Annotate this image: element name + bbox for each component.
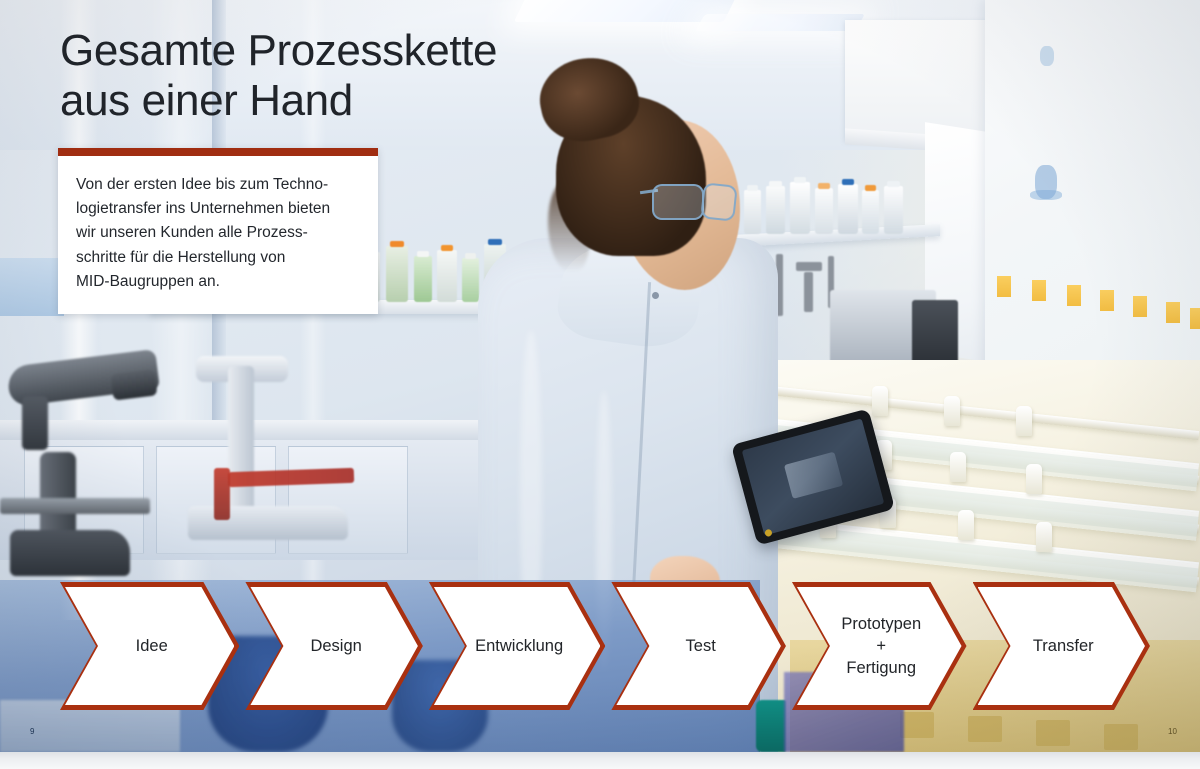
process-step-label: Transfer [1019,635,1104,657]
coat-button [652,292,659,299]
whiteboard-marking [1040,46,1054,66]
process-step-prototypen-fertigung[interactable]: Prototypen + Fertigung [792,582,967,710]
sticky-note [1166,302,1180,323]
tray-peg [944,396,960,426]
reagent-bottle [462,258,479,302]
page-edge [0,752,1200,769]
process-step-transfer[interactable]: Transfer [973,582,1150,710]
tablet-screen-content [784,451,843,498]
whiteboard-marking [1030,190,1062,200]
reagent-bottle [884,186,903,234]
amber-block [900,712,934,738]
process-step-label: Idee [122,635,178,657]
page-number-left: 9 [30,727,34,736]
process-step-label: Design [296,635,371,657]
reagent-bottle [386,246,408,302]
reagent-bottle [766,186,785,234]
sticky-note [1133,296,1147,317]
microscope-base [10,530,130,576]
microscope-arm [228,366,254,516]
sticky-note [1067,285,1081,306]
reagent-bottle [838,184,858,234]
safety-glasses-lens [652,184,704,220]
reagent-bottle [437,250,457,302]
wall-cabinet [845,20,995,140]
sticky-note [1032,280,1046,301]
intro-callout-text: Von der ersten Idee bis zum Techno- logi… [58,156,378,314]
process-step-idee[interactable]: Idee [60,582,239,710]
sticky-note [1100,290,1114,311]
amber-block [1104,724,1138,750]
process-step-label: Test [672,635,726,657]
tray-peg [958,510,974,540]
tray-peg [872,386,888,416]
sticky-note [1190,308,1200,329]
hanging-tool [796,262,822,271]
sticky-note [997,276,1011,297]
process-step-test[interactable]: Test [611,582,786,710]
intro-callout-box: Von der ersten Idee bis zum Techno- logi… [58,148,378,314]
reagent-bottle [815,188,833,234]
microscope-eyepiece [111,369,158,400]
lab-equipment-box [912,300,958,368]
process-chain: Idee Design Entwicklung Test Prototypen … [60,582,1150,710]
safety-glasses-lens [700,182,738,221]
reagent-bottle [790,182,810,234]
lab-bench-top [0,420,520,442]
ceiling-light-fixture [695,14,865,31]
process-step-design[interactable]: Design [245,582,422,710]
amber-block [968,716,1002,742]
microscope-objective [22,396,48,450]
page-number-right: 10 [1168,727,1177,736]
tray-peg [1026,464,1042,494]
process-step-label: Prototypen + Fertigung [827,613,931,679]
tray-peg [1016,406,1032,436]
frosted-glass-panel [0,258,64,316]
reagent-bottle [862,190,879,234]
microscope-stage [0,498,150,514]
reagent-bottle [744,190,761,234]
microscope-base [188,506,348,540]
amber-block [1036,720,1070,746]
page-title: Gesamte Prozesskette aus einer Hand [60,26,680,125]
tray-peg [950,452,966,482]
tray-peg [1036,522,1052,552]
red-lab-tool [214,468,230,520]
process-step-entwicklung[interactable]: Entwicklung [429,582,606,710]
hanging-tool [804,272,813,312]
process-step-label: Entwicklung [461,635,573,657]
reagent-bottle [414,256,432,302]
brochure-spread: Gesamte Prozesskette aus einer Hand Von … [0,0,1200,769]
